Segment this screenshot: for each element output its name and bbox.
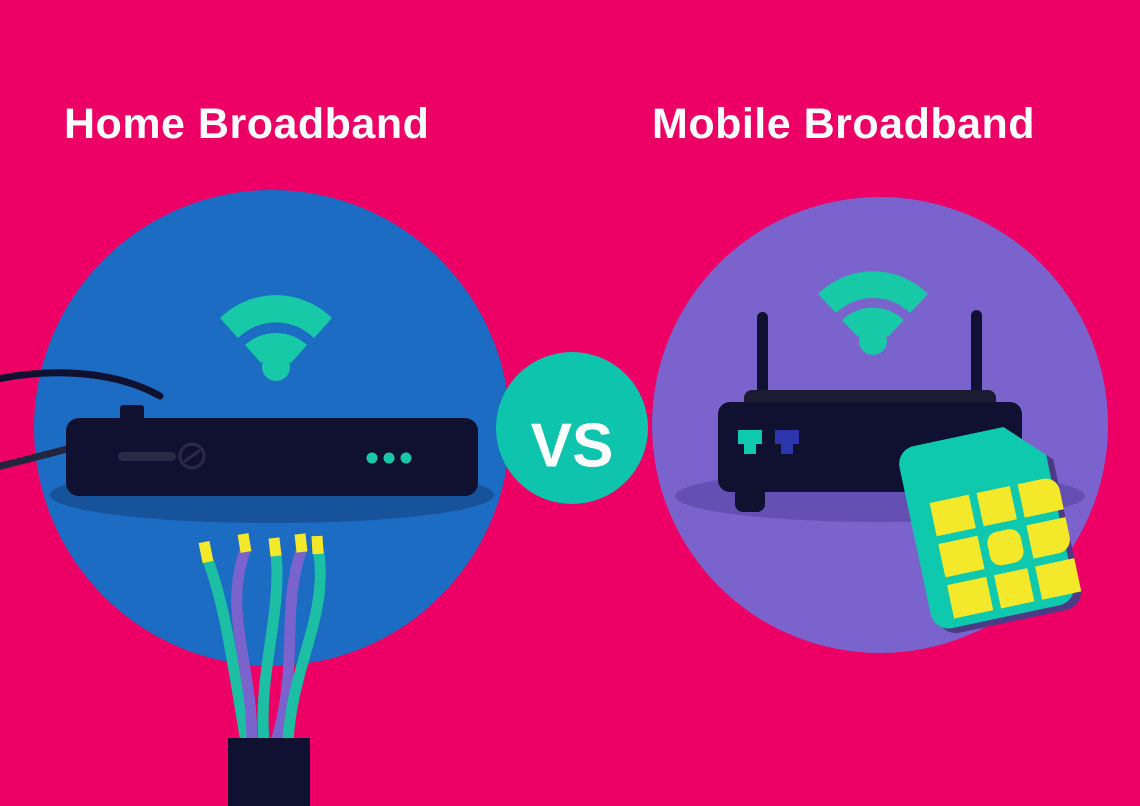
vs-badge-label: VS	[531, 411, 614, 480]
page-title-mobile-broadband: Mobile Broadband	[652, 100, 1035, 149]
home-broadband-panel	[0, 190, 510, 806]
home-router-slot	[118, 452, 176, 461]
home-router-icon	[66, 405, 478, 496]
home-router-leds	[367, 453, 412, 464]
mobile-broadband-panel	[652, 197, 1108, 653]
fiber-cable-sheath	[228, 738, 310, 806]
page-title-home-broadband: Home Broadband	[64, 100, 429, 149]
infographic-canvas: VS Home Broadband Mobile Broadband	[0, 0, 1140, 806]
vs-badge: VS	[496, 352, 648, 504]
